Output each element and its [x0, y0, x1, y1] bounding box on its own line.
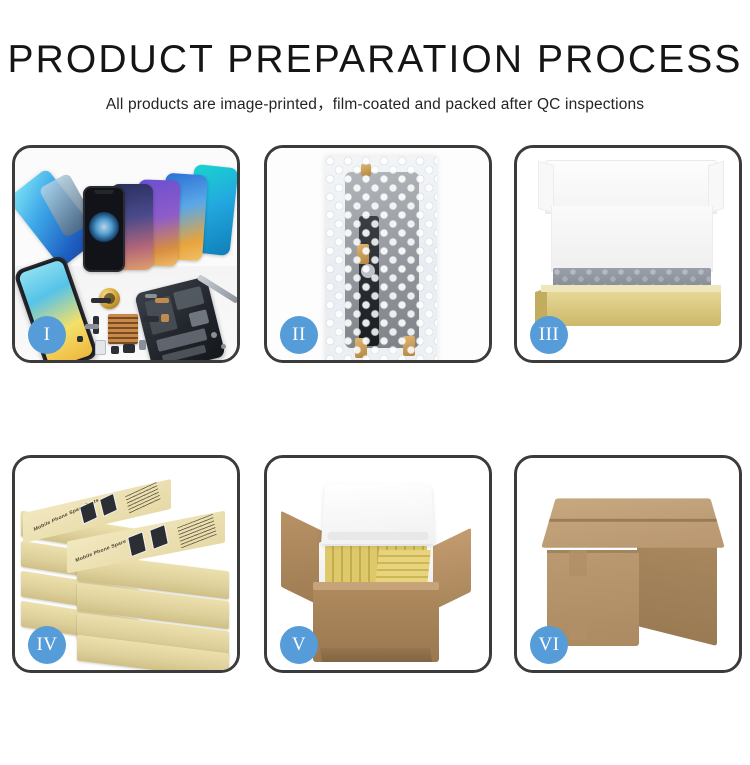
step-badge-4: IV [28, 626, 66, 664]
carton-tape-lower-icon [569, 618, 587, 640]
step-badge-2: II [280, 316, 318, 354]
phone-black-display-icon [83, 186, 125, 272]
kraft-box-base-icon [541, 290, 721, 326]
process-row-1: I II [0, 145, 750, 363]
step-panel-1[interactable]: I [12, 145, 240, 363]
process-row-2: Mobile Phone Spare Parts Mobile Phone Sp… [0, 455, 750, 673]
bubble-wrap-bag-icon [325, 156, 437, 360]
carton-tape-upper-icon [569, 550, 587, 576]
step-badge-1: I [28, 316, 66, 354]
packed-boxes-secondary-icon [375, 550, 431, 586]
step-panel-5[interactable]: V [264, 455, 492, 673]
step-panel-3[interactable]: III [514, 145, 742, 363]
step-badge-3: III [530, 316, 568, 354]
carton-body-icon [313, 586, 439, 662]
page-header: PRODUCT PREPARATION PROCESS All products… [0, 0, 750, 114]
page-subtitle: All products are image-printed，film-coat… [0, 79, 750, 114]
carton-top-face-icon [541, 498, 725, 547]
foam-padding-icon [551, 206, 713, 272]
step-panel-6[interactable]: VI [514, 455, 742, 673]
page-title: PRODUCT PREPARATION PROCESS [0, 40, 750, 79]
step-badge-6: VI [530, 626, 568, 664]
chip-grid-icon [108, 314, 138, 344]
step-badge-5: V [280, 626, 318, 664]
foam-lid-icon [321, 484, 435, 544]
process-steps-grid: I II [0, 145, 750, 765]
step-panel-2[interactable]: II [264, 145, 492, 363]
step-panel-4[interactable]: Mobile Phone Spare Parts Mobile Phone Sp… [12, 455, 240, 673]
